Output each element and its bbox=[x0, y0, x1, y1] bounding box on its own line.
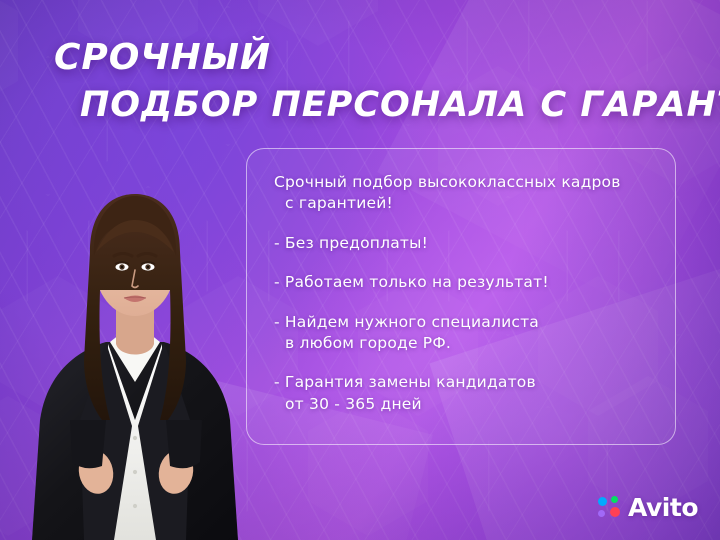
panel-item-3-main: - Найдем нужного специалиста bbox=[274, 313, 539, 331]
promo-banner: СРОЧНЫЙ ПОДБОР ПЕРСОНАЛА С ГАРАНТИЕЙ Сро… bbox=[0, 0, 720, 540]
panel-item-3-sub: в любом городе РФ. bbox=[274, 333, 672, 354]
panel-item-4-sub: от 30 - 365 дней bbox=[274, 394, 672, 415]
headline-line-1: СРОЧНЫЙ bbox=[54, 40, 694, 76]
avito-dot-green bbox=[611, 496, 618, 503]
panel-item-2: - Работаем только на результат! bbox=[274, 272, 672, 293]
panel-item-0: Срочный подбор высококлассных кадров с г… bbox=[274, 172, 672, 215]
avito-logo: Avito bbox=[598, 493, 698, 522]
avito-dots-icon bbox=[598, 496, 621, 519]
panel-item-4-main: - Гарантия замены кандидатов bbox=[274, 373, 536, 391]
headline-line-2: ПОДБОР ПЕРСОНАЛА С ГАРАНТИЕЙ bbox=[80, 88, 694, 123]
avito-wordmark: Avito bbox=[628, 493, 698, 522]
panel-item-1: - Без предоплаты! bbox=[274, 233, 672, 254]
panel-item-2-main: - Работаем только на результат! bbox=[274, 273, 549, 291]
person-photo bbox=[10, 120, 260, 540]
panel-item-3: - Найдем нужного специалиста в любом гор… bbox=[274, 312, 672, 355]
panel-item-4: - Гарантия замены кандидатов от 30 - 365… bbox=[274, 372, 672, 415]
text-panel-content: Срочный подбор высококлассных кадров с г… bbox=[274, 172, 672, 415]
headline: СРОЧНЫЙ ПОДБОР ПЕРСОНАЛА С ГАРАНТИЕЙ bbox=[54, 40, 694, 123]
panel-item-0-main: Срочный подбор высококлассных кадров bbox=[274, 173, 621, 191]
panel-item-0-sub: с гарантией! bbox=[274, 193, 672, 214]
panel-item-1-main: - Без предоплаты! bbox=[274, 234, 428, 252]
avito-dot-blue bbox=[598, 497, 607, 506]
avito-dot-red bbox=[610, 507, 620, 517]
avito-dot-purple bbox=[598, 510, 605, 517]
